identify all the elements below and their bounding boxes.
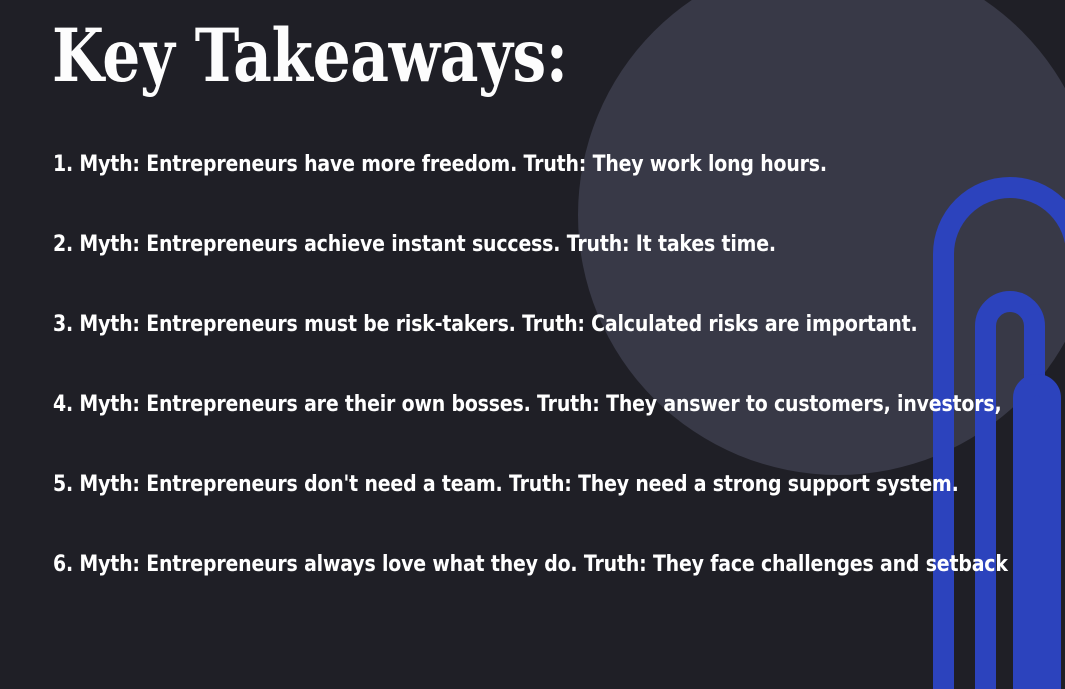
list-item: 5. Myth: Entrepreneurs don't need a team…	[53, 468, 999, 548]
page-title: Key Takeaways:	[52, 16, 568, 96]
list-item: 1. Myth: Entrepreneurs have more freedom…	[53, 148, 999, 228]
takeaway-list: 1. Myth: Entrepreneurs have more freedom…	[53, 148, 1065, 628]
slide-content: Key Takeaways: 1. Myth: Entrepreneurs ha…	[0, 0, 1065, 689]
list-item: 2. Myth: Entrepreneurs achieve instant s…	[53, 228, 999, 308]
list-item: 3. Myth: Entrepreneurs must be risk-take…	[53, 308, 999, 388]
list-item: 6. Myth: Entrepreneurs always love what …	[53, 548, 999, 628]
slide-canvas: Key Takeaways: 1. Myth: Entrepreneurs ha…	[0, 0, 1065, 689]
list-item: 4. Myth: Entrepreneurs are their own bos…	[53, 388, 999, 468]
